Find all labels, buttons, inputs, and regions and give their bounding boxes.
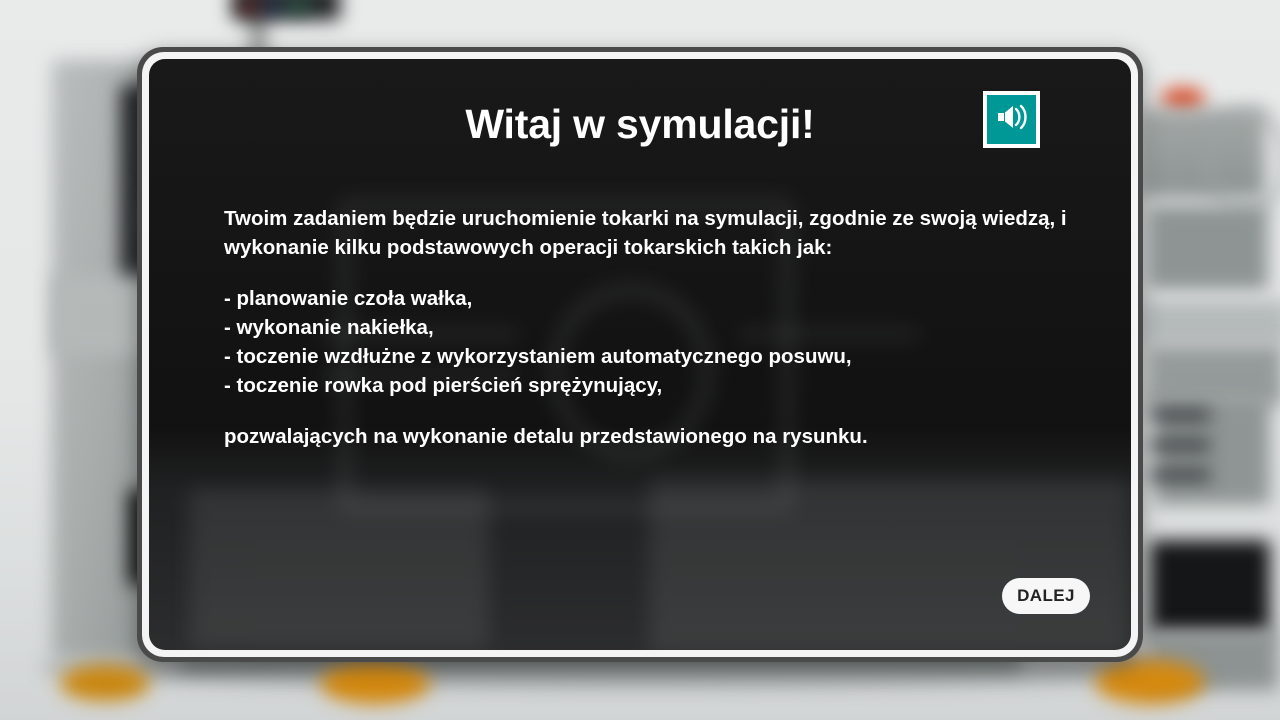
monitor-indicator-red [240,2,260,12]
tailstock-slot [1150,440,1210,450]
tailstock-base-dark [1150,540,1270,635]
next-button[interactable]: DALEJ [1002,578,1090,614]
speaker-on-icon [995,102,1029,137]
ghost-base-left [189,489,489,649]
tailstock-handwheel [1205,110,1280,212]
tailstock-body [1148,205,1268,290]
monitor-indicator-green [286,2,310,12]
machine-foot [1095,660,1205,704]
machine-foot [320,662,430,704]
monitor-indicator-blue [264,2,282,12]
task-list-item: - wykonanie nakiełka, [224,313,1079,342]
task-list-item: - toczenie wzdłużne z wykorzystaniem aut… [224,342,1079,371]
task-list: - planowanie czoła wałka, - wykonanie na… [224,284,1079,400]
tailstock-slot [1150,410,1210,420]
welcome-dialog: Witaj w symulacji! Twoim zadaniem będzie… [137,47,1143,662]
machine-foot [60,665,150,701]
instruction-text: Twoim zadaniem będzie uruchomienie tokar… [224,204,1079,451]
dialog-inner-border: Witaj w symulacji! Twoim zadaniem będzie… [142,52,1138,657]
task-list-item: - planowanie czoła wałka, [224,284,1079,313]
tailstock-slot [1150,470,1210,480]
ghost-base-right [649,479,1129,650]
intro-paragraph: Twoim zadaniem będzie uruchomienie tokar… [224,204,1079,262]
task-list-item: - toczenie rowka pod pierścień sprężynuj… [224,371,1079,400]
closing-paragraph: pozwalających na wykonanie detalu przeds… [224,422,1079,451]
dialog-content-area: Witaj w symulacji! Twoim zadaniem będzie… [149,59,1131,650]
sound-toggle-button[interactable] [983,91,1040,148]
tailstock-plate [1140,300,1280,345]
